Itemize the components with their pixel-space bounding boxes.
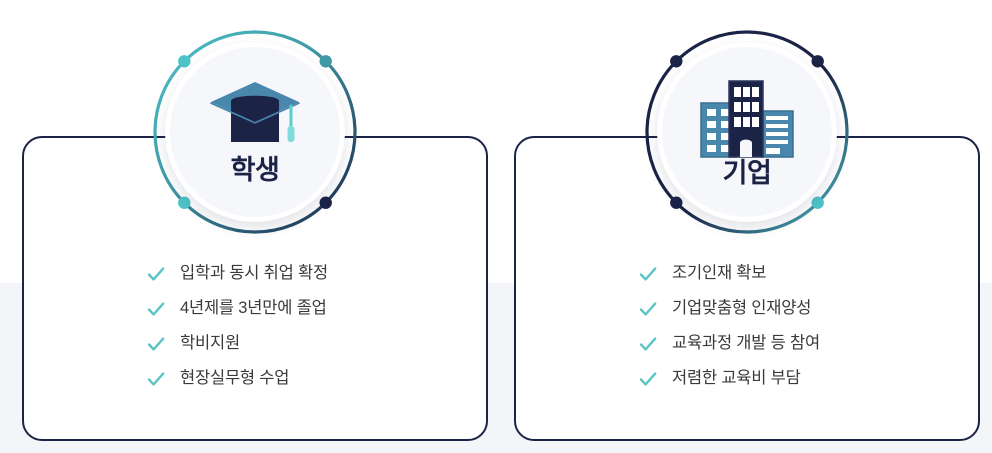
feature-label: 저렴한 교육비 부담 bbox=[672, 370, 801, 387]
feature-label: 교육과정 개발 등 참여 bbox=[672, 335, 820, 352]
feature-label: 조기인재 확보 bbox=[672, 265, 766, 282]
feature-label: 기업맞춤형 인재양성 bbox=[672, 300, 811, 317]
feature-label: 입학과 동시 취업 확정 bbox=[180, 265, 328, 282]
badge-title: 학생 bbox=[231, 156, 280, 184]
badge-content: 기업 bbox=[657, 42, 837, 222]
list-item: 교육과정 개발 등 참여 bbox=[516, 326, 978, 361]
check-icon bbox=[638, 264, 658, 284]
check-icon bbox=[146, 264, 166, 284]
badge-student[interactable]: 학생 bbox=[149, 26, 361, 238]
feature-label: 4년제를 3년만에 졸업 bbox=[180, 300, 327, 317]
list-item: 저렴한 교육비 부담 bbox=[516, 361, 978, 396]
badge-company[interactable]: 기업 bbox=[641, 26, 853, 238]
list-item: 기업맞춤형 인재양성 bbox=[516, 291, 978, 326]
list-item: 입학과 동시 취업 확정 bbox=[24, 256, 486, 291]
feature-label: 학비지원 bbox=[180, 335, 240, 352]
badge-title: 기업 bbox=[723, 159, 772, 187]
graduation-cap-icon bbox=[209, 80, 301, 154]
list-item: 조기인재 확보 bbox=[516, 256, 978, 291]
feature-list-company: 조기인재 확보 기업맞춤형 인재양성 교육과정 개발 등 참여 저렴한 교육비 … bbox=[516, 256, 978, 396]
list-item: 현장실무형 수업 bbox=[24, 361, 486, 396]
check-icon bbox=[146, 334, 166, 354]
check-icon bbox=[638, 369, 658, 389]
check-icon bbox=[146, 369, 166, 389]
benefits-diagram: 입학과 동시 취업 확정 4년제를 3년만에 졸업 학비지원 현장실무형 수업 bbox=[0, 0, 992, 453]
office-buildings-icon bbox=[699, 77, 795, 159]
list-item: 학비지원 bbox=[24, 326, 486, 361]
check-icon bbox=[638, 334, 658, 354]
check-icon bbox=[146, 299, 166, 319]
badge-content: 학생 bbox=[165, 42, 345, 222]
feature-list-student: 입학과 동시 취업 확정 4년제를 3년만에 졸업 학비지원 현장실무형 수업 bbox=[24, 256, 486, 396]
feature-label: 현장실무형 수업 bbox=[180, 370, 289, 387]
check-icon bbox=[638, 299, 658, 319]
list-item: 4년제를 3년만에 졸업 bbox=[24, 291, 486, 326]
